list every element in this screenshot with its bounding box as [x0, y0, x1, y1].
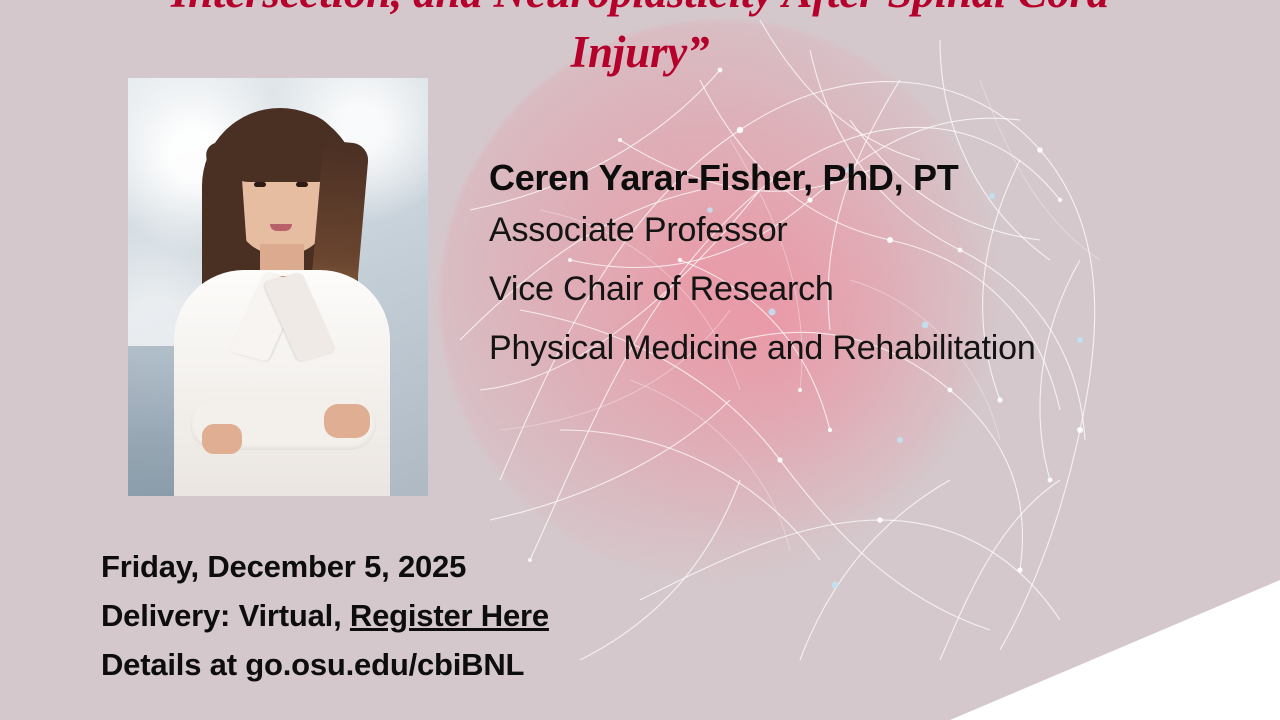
headshot-eye-left — [254, 182, 266, 187]
title-line-1: Intersection, and Neuroplasticity After … — [171, 0, 1109, 17]
event-details-block: Friday, December 5, 2025 Delivery: Virtu… — [101, 542, 881, 689]
headshot-hand-left — [324, 404, 370, 438]
presentation-slide: Intersection, and Neuroplasticity After … — [0, 0, 1280, 720]
speaker-title-line-2: Vice Chair of Research — [489, 260, 1229, 319]
title-line-2: Injury” — [0, 22, 1280, 82]
page-title: Intersection, and Neuroplasticity After … — [0, 0, 1280, 82]
headshot-eye-right — [296, 182, 308, 187]
corner-wedge-decoration — [950, 580, 1280, 720]
speaker-headshot — [128, 78, 428, 496]
event-more-info: Details at go.osu.edu/cbiBNL — [101, 640, 881, 689]
event-delivery: Delivery: Virtual, Register Here — [101, 591, 881, 640]
register-here-link[interactable]: Register Here — [350, 598, 549, 633]
headshot-mouth — [270, 224, 292, 231]
event-date: Friday, December 5, 2025 — [101, 542, 881, 591]
speaker-name: Ceren Yarar-Fisher, PhD, PT — [489, 155, 1229, 201]
speaker-title-line-1: Associate Professor — [489, 201, 1229, 260]
speaker-info-block: Ceren Yarar-Fisher, PhD, PT Associate Pr… — [489, 155, 1229, 378]
headshot-hand-right — [202, 424, 242, 454]
speaker-department: Physical Medicine and Rehabilitation — [489, 319, 1229, 378]
delivery-label: Delivery: Virtual, — [101, 598, 350, 633]
